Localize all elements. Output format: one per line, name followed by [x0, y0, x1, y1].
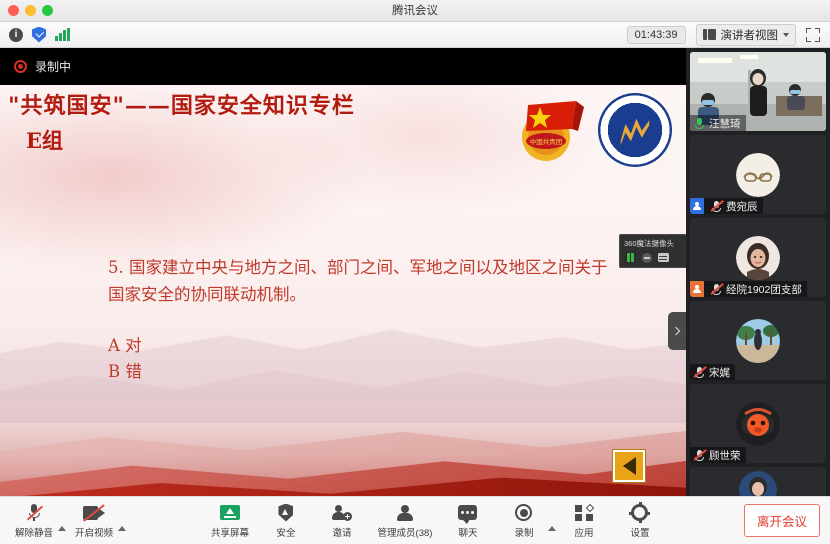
microphone-on-icon: [693, 117, 706, 130]
manage-members-label: 管理成员(38): [378, 525, 433, 539]
avatar: [736, 319, 780, 363]
slide-option-b: B 错: [108, 359, 608, 385]
microphone-muted-icon: [710, 200, 723, 213]
window-titlebar: 腾讯会议: [0, 0, 830, 22]
participant-name: 经院1902团支部: [726, 282, 802, 297]
settings-button[interactable]: 设置: [612, 503, 668, 539]
participant-tile[interactable]: 经院1902团支部: [690, 218, 826, 297]
participant-tile[interactable]: 顾世荣: [690, 384, 826, 463]
settings-label: 设置: [630, 525, 649, 539]
participant-namebar: 顾世荣: [690, 447, 746, 463]
microphone-muted-icon: [693, 366, 706, 379]
chat-label: 聊天: [458, 525, 477, 539]
signal-icon[interactable]: [55, 28, 70, 41]
camera-widget-title: 360魔法摄像头: [622, 237, 684, 250]
avatar: [739, 471, 777, 496]
avatar: [736, 402, 780, 446]
video-options-chevron-icon[interactable]: [118, 526, 126, 531]
apps-label: 应用: [574, 525, 593, 539]
microphone-muted-icon: [27, 503, 42, 523]
start-video-button[interactable]: 开启视频: [66, 503, 122, 539]
record-dot-icon: [14, 60, 27, 73]
info-icon[interactable]: i: [9, 28, 23, 42]
shield-icon[interactable]: [32, 27, 46, 43]
camera-off-icon: [83, 503, 105, 523]
meeting-timer: 01:43:39: [627, 26, 686, 44]
participant-tile[interactable]: 费宛辰: [690, 135, 826, 214]
slide-emblems: 中国共青团: [512, 93, 672, 167]
manage-members-button[interactable]: 管理成员(38): [370, 503, 440, 539]
record-icon: [515, 503, 532, 523]
security-button[interactable]: 安全: [258, 503, 314, 539]
manage-members-icon: [396, 503, 413, 523]
previous-slide-arrow[interactable]: [613, 450, 645, 482]
meeting-bottom-toolbar: 解除静音 开启视频 共享屏幕 安全 邀请: [0, 496, 830, 544]
participant-namebar: 宋娓: [690, 364, 735, 380]
apps-button[interactable]: 应用: [556, 503, 612, 539]
microphone-muted-icon: [710, 283, 723, 296]
school-emblem-icon: [598, 93, 672, 167]
camera-panel-icon[interactable]: [658, 253, 669, 262]
apps-icon: [575, 503, 593, 523]
microphone-muted-icon: [693, 449, 706, 462]
meeting-toolbar: i 01:43:39 演讲者视图: [0, 22, 830, 48]
slide-question-text: 5. 国家建立中央与地方之间、部门之间、军地之间以及地区之间关于国家安全的协同联…: [108, 255, 608, 308]
collapse-panel-handle[interactable]: [668, 312, 686, 350]
view-mode-label: 演讲者视图: [721, 27, 779, 43]
unmute-button[interactable]: 解除静音: [6, 503, 62, 539]
avatar: [736, 236, 780, 280]
participant-name: 费宛辰: [726, 199, 758, 214]
layout-icon: [703, 29, 716, 40]
participant-tile[interactable]: 宋娓: [690, 301, 826, 380]
chat-icon: [458, 503, 477, 523]
unmute-label: 解除静音: [15, 525, 53, 539]
view-mode-selector[interactable]: 演讲者视图: [696, 24, 797, 46]
chat-button[interactable]: 聊天: [440, 503, 496, 539]
share-screen-label: 共享屏幕: [211, 525, 249, 539]
camera-widget-overlay[interactable]: 360魔法摄像头: [619, 234, 686, 268]
slide-subtitle: E组: [26, 125, 63, 155]
meeting-window: 腾讯会议 i 01:43:39 演讲者视图 录制中 锁定: [0, 0, 830, 544]
fullscreen-icon[interactable]: [806, 28, 820, 42]
record-options-chevron-icon[interactable]: [548, 526, 556, 531]
participant-tile[interactable]: [690, 467, 826, 496]
participant-name: 顾世荣: [709, 448, 741, 463]
share-screen-icon: [220, 503, 240, 523]
audio-options-chevron-icon[interactable]: [58, 526, 66, 531]
slide-title: "共筑国安"——国家安全知识专栏: [8, 93, 478, 121]
camera-minimize-icon[interactable]: [642, 253, 652, 263]
chevron-down-icon: [783, 33, 789, 37]
leave-meeting-button[interactable]: 离开会议: [744, 504, 820, 537]
svg-text:中国共青团: 中国共青团: [530, 137, 563, 146]
participant-name: 宋娓: [709, 365, 730, 380]
youth-league-emblem-icon: 中国共青团: [512, 97, 586, 163]
host-badge-icon: [690, 198, 704, 214]
participant-name: 汪慧琦: [709, 116, 741, 131]
share-screen-button[interactable]: 共享屏幕: [202, 503, 258, 539]
invite-button[interactable]: 邀请: [314, 503, 370, 539]
recording-label: 录制中: [35, 58, 71, 75]
invite-label: 邀请: [332, 525, 351, 539]
settings-gear-icon: [631, 503, 648, 523]
security-label: 安全: [276, 525, 295, 539]
record-button[interactable]: 录制: [496, 503, 552, 539]
presentation-slide: "共筑国安"——国家安全知识专栏 E组 中国共青团: [0, 85, 686, 496]
recording-indicator: 录制中: [14, 58, 71, 75]
invite-icon: [332, 503, 352, 523]
avatar: [736, 153, 780, 197]
participant-tile[interactable]: 汪慧琦: [690, 52, 826, 131]
participant-namebar: 费宛辰: [690, 198, 763, 214]
participant-rail[interactable]: 汪慧琦 费宛辰: [686, 48, 830, 496]
cohost-badge-icon: [690, 281, 704, 297]
participant-namebar: 经院1902团支部: [690, 281, 807, 297]
participant-namebar: 汪慧琦: [690, 115, 746, 131]
start-video-label: 开启视频: [75, 525, 113, 539]
security-icon: [278, 503, 293, 523]
shared-screen-stage[interactable]: 录制中 锁定画面 "共筑国安"——国家安全知识专栏 E组: [0, 48, 686, 496]
camera-level-icon: [625, 252, 636, 263]
slide-option-a: A 对: [108, 333, 608, 359]
record-label: 录制: [514, 525, 533, 539]
window-title: 腾讯会议: [0, 0, 830, 22]
